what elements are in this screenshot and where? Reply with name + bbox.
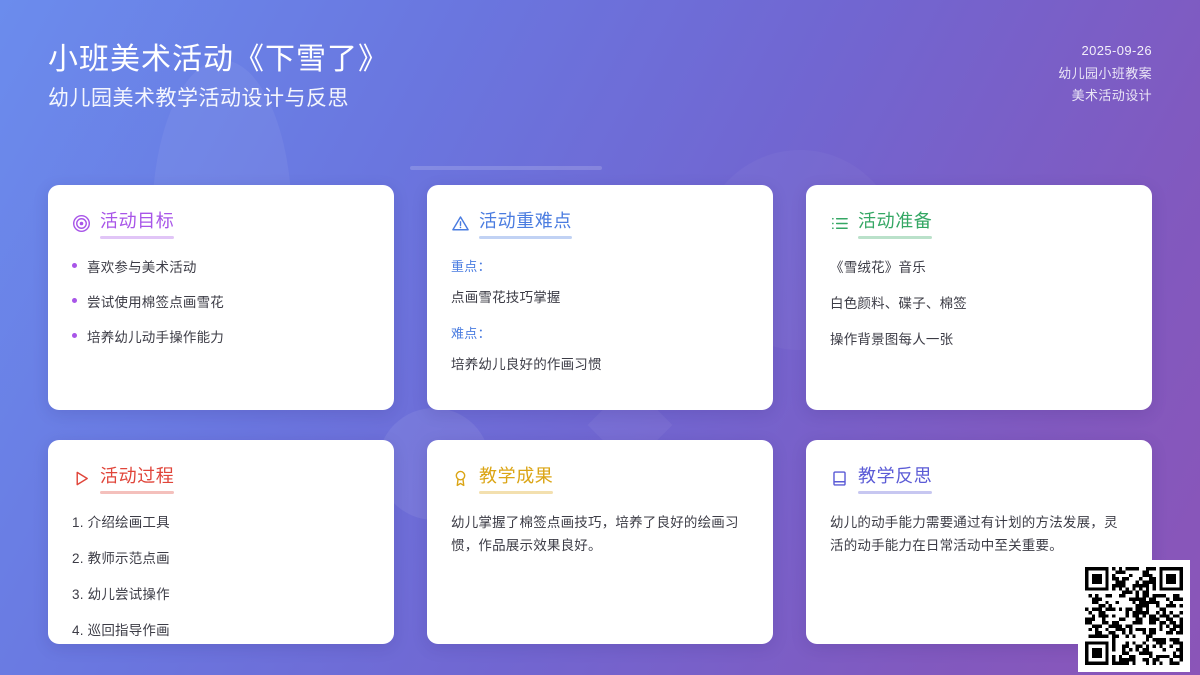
list-icon: [830, 214, 849, 233]
goals-list: 喜欢参与美术活动 尝试使用棉签点画雪花 培养幼儿动手操作能力: [72, 256, 370, 346]
list-item: 教师示范点画: [72, 547, 370, 567]
focus-value: 点画雪花技巧掌握: [451, 286, 749, 306]
list-item: 幼儿尝试操作: [72, 583, 370, 603]
qr-code-icon: [1085, 567, 1183, 665]
reflection-text: 幼儿的动手能力需要通过有计划的方法发展，灵活的动手能力在日常活动中至关重要。: [830, 511, 1128, 557]
qr-code-panel[interactable]: [1078, 560, 1190, 672]
meta-date: 2025-09-26: [1058, 40, 1152, 63]
card-title: 教学反思: [858, 462, 932, 494]
header-meta: 2025-09-26 幼儿园小班教案 美术活动设计: [1058, 40, 1152, 108]
list-item: 尝试使用棉签点画雪花: [72, 291, 370, 311]
book-icon: [830, 469, 849, 488]
card-header: 活动目标: [72, 207, 370, 239]
card-header: 活动重难点: [451, 207, 749, 239]
list-item: 《雪绒花》音乐: [830, 256, 1128, 276]
card-title: 活动目标: [100, 207, 174, 239]
difficulty-value: 培养幼儿良好的作画习惯: [451, 353, 749, 373]
card-header: 活动过程: [72, 462, 370, 494]
process-steps: 介绍绘画工具 教师示范点画 幼儿尝试操作 巡回指导作画: [72, 511, 370, 639]
card-title: 活动重难点: [479, 207, 572, 239]
card-preparation[interactable]: 活动准备 《雪绒花》音乐 白色颜料、碟子、棉签 操作背景图每人一张: [806, 185, 1152, 410]
card-grid: 活动目标 喜欢参与美术活动 尝试使用棉签点画雪花 培养幼儿动手操作能力 活动重难…: [48, 185, 1152, 644]
focus-label: 重点：: [451, 256, 749, 275]
play-triangle-icon: [72, 469, 91, 488]
medal-icon: [451, 469, 470, 488]
card-key-difficulties[interactable]: 活动重难点 重点： 点画雪花技巧掌握 难点： 培养幼儿良好的作画习惯: [427, 185, 773, 410]
meta-line-two: 幼儿园小班教案: [1058, 63, 1152, 86]
slide-canvas: 小班美术活动《下雪了》 幼儿园美术教学活动设计与反思 2025-09-26 幼儿…: [0, 0, 1200, 675]
preparation-list: 《雪绒花》音乐 白色颜料、碟子、棉签 操作背景图每人一张: [830, 256, 1128, 348]
difficulty-label: 难点：: [451, 323, 749, 342]
card-title: 活动准备: [858, 207, 932, 239]
page-title: 小班美术活动《下雪了》: [48, 40, 389, 80]
keypoints-body: 重点： 点画雪花技巧掌握 难点： 培养幼儿良好的作画习惯: [451, 256, 749, 373]
title-block: 小班美术活动《下雪了》 幼儿园美术教学活动设计与反思: [48, 40, 389, 113]
card-header: 教学成果: [451, 462, 749, 494]
page-subtitle: 幼儿园美术教学活动设计与反思: [48, 84, 389, 113]
bullseye-icon: [72, 214, 91, 233]
card-title: 活动过程: [100, 462, 174, 494]
list-item: 操作背景图每人一张: [830, 328, 1128, 348]
card-activity-goals[interactable]: 活动目标 喜欢参与美术活动 尝试使用棉签点画雪花 培养幼儿动手操作能力: [48, 185, 394, 410]
meta-line-three: 美术活动设计: [1058, 85, 1152, 108]
card-teaching-outcome[interactable]: 教学成果 幼儿掌握了棉签点画技巧，培养了良好的绘画习惯，作品展示效果良好。: [427, 440, 773, 644]
card-title: 教学成果: [479, 462, 553, 494]
warning-triangle-icon: [451, 214, 470, 233]
list-item: 白色颜料、碟子、棉签: [830, 292, 1128, 312]
list-item: 巡回指导作画: [72, 619, 370, 639]
list-item: 培养幼儿动手操作能力: [72, 326, 370, 346]
decor-divider-bar: [410, 166, 602, 170]
outcome-text: 幼儿掌握了棉签点画技巧，培养了良好的绘画习惯，作品展示效果良好。: [451, 511, 749, 557]
card-activity-process[interactable]: 活动过程 介绍绘画工具 教师示范点画 幼儿尝试操作 巡回指导作画: [48, 440, 394, 644]
list-item: 喜欢参与美术活动: [72, 256, 370, 276]
card-header: 教学反思: [830, 462, 1128, 494]
list-item: 介绍绘画工具: [72, 511, 370, 531]
slide-header: 小班美术活动《下雪了》 幼儿园美术教学活动设计与反思 2025-09-26 幼儿…: [0, 0, 1200, 160]
card-header: 活动准备: [830, 207, 1128, 239]
